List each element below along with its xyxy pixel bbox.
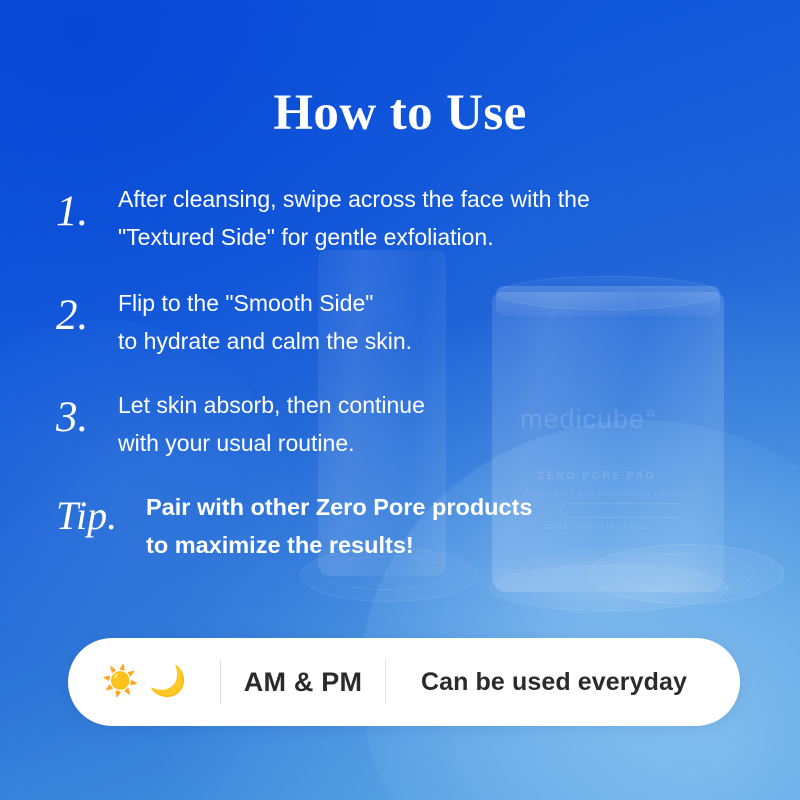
step-item-3: 3. Let skin absorb, then continue with y… [56,382,746,462]
step-item-1: 1. After cleansing, swipe across the fac… [56,176,746,256]
tip-item: Tip. Pair with other Zero Pore products … [56,484,746,564]
step-text-3: Let skin absorb, then continue with your… [118,382,746,462]
tip-text-line-2: to maximize the results! [146,526,746,564]
banner-frequency-label: Can be used everyday [386,668,740,697]
step-text-3-line-1: Let skin absorb, then continue [118,386,746,424]
sun-icon: ☀️ [102,667,139,697]
step-marker-2: 2. [56,280,118,337]
step-text-2-line-2: to hydrate and calm the skin. [118,322,746,360]
step-text-2: Flip to the "Smooth Side" to hydrate and… [118,280,746,360]
moon-icon: 🌙 [149,667,186,697]
tip-marker: Tip. [56,484,146,536]
banner-time-label: AM & PM [221,667,385,698]
tip-text: Pair with other Zero Pore products to ma… [146,484,746,564]
tip-text-line-1: Pair with other Zero Pore products [146,488,746,526]
step-text-1-line-2: "Textured Side" for gentle exfoliation. [118,218,746,256]
step-text-2-line-1: Flip to the "Smooth Side" [118,284,746,322]
step-item-2: 2. Flip to the "Smooth Side" to hydrate … [56,280,746,360]
step-marker-3: 3. [56,382,118,439]
step-marker-1: 1. [56,176,118,233]
step-text-1-line-1: After cleansing, swipe across the face w… [118,180,746,218]
page-title: How to Use [0,84,800,142]
step-text-1: After cleansing, swipe across the face w… [118,176,746,256]
step-text-3-line-2: with your usual routine. [118,424,746,462]
poster-canvas: medicube✲ ZERO PORE PAD Pore Care | AHA … [0,0,800,800]
ghost-jar-base [490,565,728,611]
usage-banner: ☀️ 🌙 AM & PM Can be used everyday [68,638,740,726]
banner-icon-group: ☀️ 🌙 [68,667,220,697]
steps-list: 1. After cleansing, swipe across the fac… [56,176,746,564]
